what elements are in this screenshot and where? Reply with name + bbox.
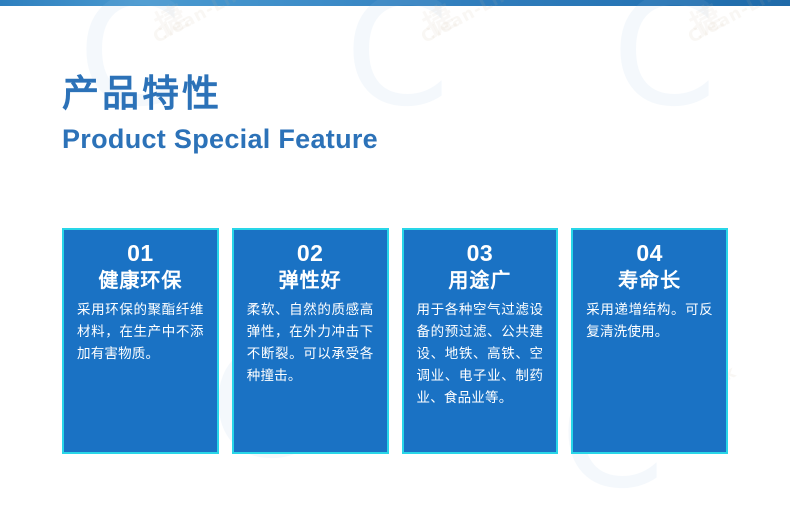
feature-card-number: 01: [127, 241, 154, 265]
feature-card-title: 寿命长: [618, 268, 681, 294]
feature-card-description: 用于各种空气过滤设备的预过滤、公共建设、地铁、高铁、空调业、电子业、制药业、食品…: [417, 299, 544, 408]
watermark-brand-text: Clean-Link: [150, 0, 257, 48]
feature-card-description: 采用环保的聚酯纤维材料，在生产中不添加有害物质。: [77, 299, 204, 365]
feature-card[interactable]: 03 用途广 用于各种空气过滤设备的预过滤、公共建设、地铁、高铁、空调业、电子业…: [402, 228, 559, 454]
feature-card-number: 04: [636, 241, 663, 265]
watermark-cn-text: 捷: [414, 0, 463, 45]
page-heading: 产品特性 Product Special Feature: [62, 72, 378, 157]
watermark-logo-icon: C: [612, 0, 717, 128]
feature-card[interactable]: 02 弹性好 柔软、自然的质感高弹性，在外力冲击下不断裂。可以承受各种撞击。: [232, 228, 389, 454]
watermark-brand-text: Clean-Link: [685, 0, 790, 48]
feature-card-title: 健康环保: [98, 268, 182, 294]
feature-card-title: 弹性好: [279, 268, 342, 294]
watermark-brand-text: Clean-Link: [418, 0, 525, 48]
watermark-cn-text: 捷: [681, 0, 730, 45]
top-accent-bar: [0, 0, 790, 6]
feature-card-description: 采用递增结构。可反复清洗使用。: [586, 299, 713, 343]
product-feature-page: C C C C C 捷 捷 捷 捷 Clean-Link Clean-Link …: [0, 0, 790, 520]
page-title-en: Product Special Feature: [62, 122, 378, 157]
watermark-cn-text: 捷: [146, 0, 195, 45]
feature-card-title: 用途广: [448, 268, 511, 294]
page-title-cn: 产品特性: [62, 72, 378, 116]
feature-card[interactable]: 04 寿命长 采用递增结构。可反复清洗使用。: [571, 228, 728, 454]
feature-card-list: 01 健康环保 采用环保的聚酯纤维材料，在生产中不添加有害物质。 02 弹性好 …: [62, 228, 728, 454]
feature-card-number: 02: [297, 241, 324, 265]
feature-card[interactable]: 01 健康环保 采用环保的聚酯纤维材料，在生产中不添加有害物质。: [62, 228, 219, 454]
feature-card-description: 柔软、自然的质感高弹性，在外力冲击下不断裂。可以承受各种撞击。: [247, 299, 374, 386]
feature-card-number: 03: [467, 241, 494, 265]
